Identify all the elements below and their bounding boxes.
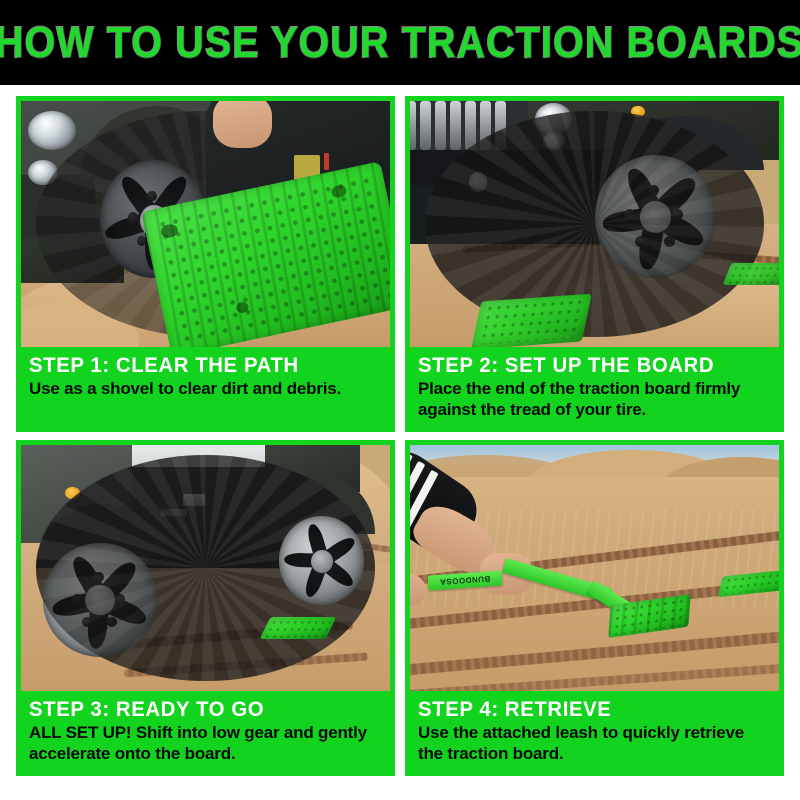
step-panel-1: STEP 1: CLEAR THE PATH Use as a shovel t… bbox=[16, 96, 395, 432]
person-knee bbox=[213, 101, 272, 148]
page-title: HOW TO USE YOUR TRACTION BOARDS bbox=[0, 18, 800, 68]
steps-grid: STEP 1: CLEAR THE PATH Use as a shovel t… bbox=[16, 96, 784, 776]
step-3-photo bbox=[21, 445, 390, 691]
step-panel-2: STEP 2: SET UP THE BOARD Place the end o… bbox=[405, 96, 784, 432]
traction-board bbox=[471, 294, 592, 347]
step-4-body: Use the attached leash to quickly retrie… bbox=[418, 723, 771, 764]
step-2-heading: STEP 2: SET UP THE BOARD bbox=[418, 353, 760, 378]
step-2-body: Place the end of the traction board firm… bbox=[418, 379, 771, 420]
step-3-caption: STEP 3: READY TO GO ALL SET UP! Shift in… bbox=[21, 691, 390, 771]
step-1-photo bbox=[21, 101, 390, 347]
step-3-body: ALL SET UP! Shift into low gear and gent… bbox=[29, 723, 382, 764]
step-1-heading: STEP 1: CLEAR THE PATH bbox=[29, 353, 371, 378]
traction-board bbox=[259, 617, 336, 639]
step-3-heading: STEP 3: READY TO GO bbox=[29, 697, 371, 722]
step-1-body: Use as a shovel to clear dirt and debris… bbox=[29, 379, 382, 400]
step-panel-3: STEP 3: READY TO GO ALL SET UP! Shift in… bbox=[16, 440, 395, 776]
step-1-caption: STEP 1: CLEAR THE PATH Use as a shovel t… bbox=[21, 347, 390, 427]
infographic-poster: HOW TO USE YOUR TRACTION BOARDS bbox=[0, 0, 800, 800]
step-4-heading: STEP 4: RETRIEVE bbox=[418, 697, 760, 722]
header-band: HOW TO USE YOUR TRACTION BOARDS bbox=[0, 0, 800, 85]
step-2-photo bbox=[410, 101, 779, 347]
step-panel-4: BUNDOOSA STEP 4: RETRIEVE Use the attach… bbox=[405, 440, 784, 776]
step-4-caption: STEP 4: RETRIEVE Use the attached leash … bbox=[410, 691, 779, 771]
step-4-photo: BUNDOOSA bbox=[410, 445, 779, 691]
step-2-caption: STEP 2: SET UP THE BOARD Place the end o… bbox=[410, 347, 779, 427]
